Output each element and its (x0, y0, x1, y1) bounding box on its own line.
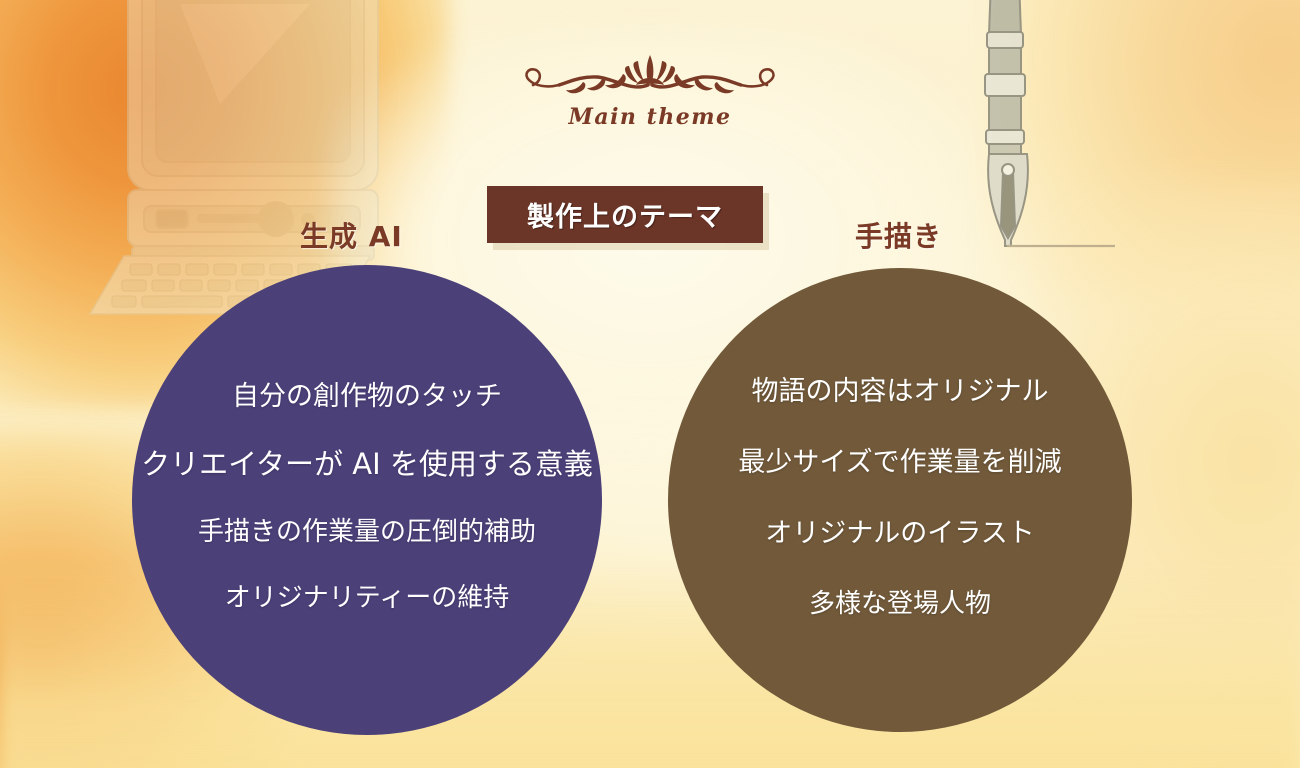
fountain-pen-nib-icon (945, 0, 1115, 264)
main-theme-label: Main theme (470, 104, 830, 130)
header-ornament-block: Main theme (470, 52, 830, 130)
bubble-left-item-4: オリジナリティーの維持 (225, 585, 509, 611)
bubble-left-item-2: クリエイターが AI を使用する意義 (141, 450, 593, 479)
label-generative-ai: 生成 AI (300, 215, 403, 255)
generative-ai-bubble: 自分の創作物のタッチ クリエイターが AI を使用する意義 手描きの作業量の圧倒… (132, 265, 602, 735)
flourish-ornament (505, 52, 795, 102)
slide-canvas: Main theme 製作上のテーマ 生成 AI 手描き 自分の創作物のタッチ … (0, 0, 1300, 768)
hand-drawn-bubble: 物語の内容はオリジナル 最少サイズで作業量を削減 オリジナルのイラスト 多様な登… (668, 268, 1132, 732)
title-plate: 製作上のテーマ (487, 186, 763, 243)
title-plate-label: 製作上のテーマ (527, 195, 723, 234)
bubble-right-item-4: 多様な登場人物 (809, 591, 991, 617)
bubble-right-item-2: 最少サイズで作業量を削減 (738, 449, 1061, 476)
label-hand-drawn: 手描き (855, 215, 942, 255)
bubble-left-item-1: 自分の創作物のタッチ (232, 383, 502, 410)
bubble-right-item-1: 物語の内容はオリジナル (752, 378, 1049, 405)
bubble-left-item-3: 手描きの作業量の圧倒的補助 (198, 519, 536, 545)
bubble-right-item-3: オリジナルのイラスト (765, 520, 1034, 547)
